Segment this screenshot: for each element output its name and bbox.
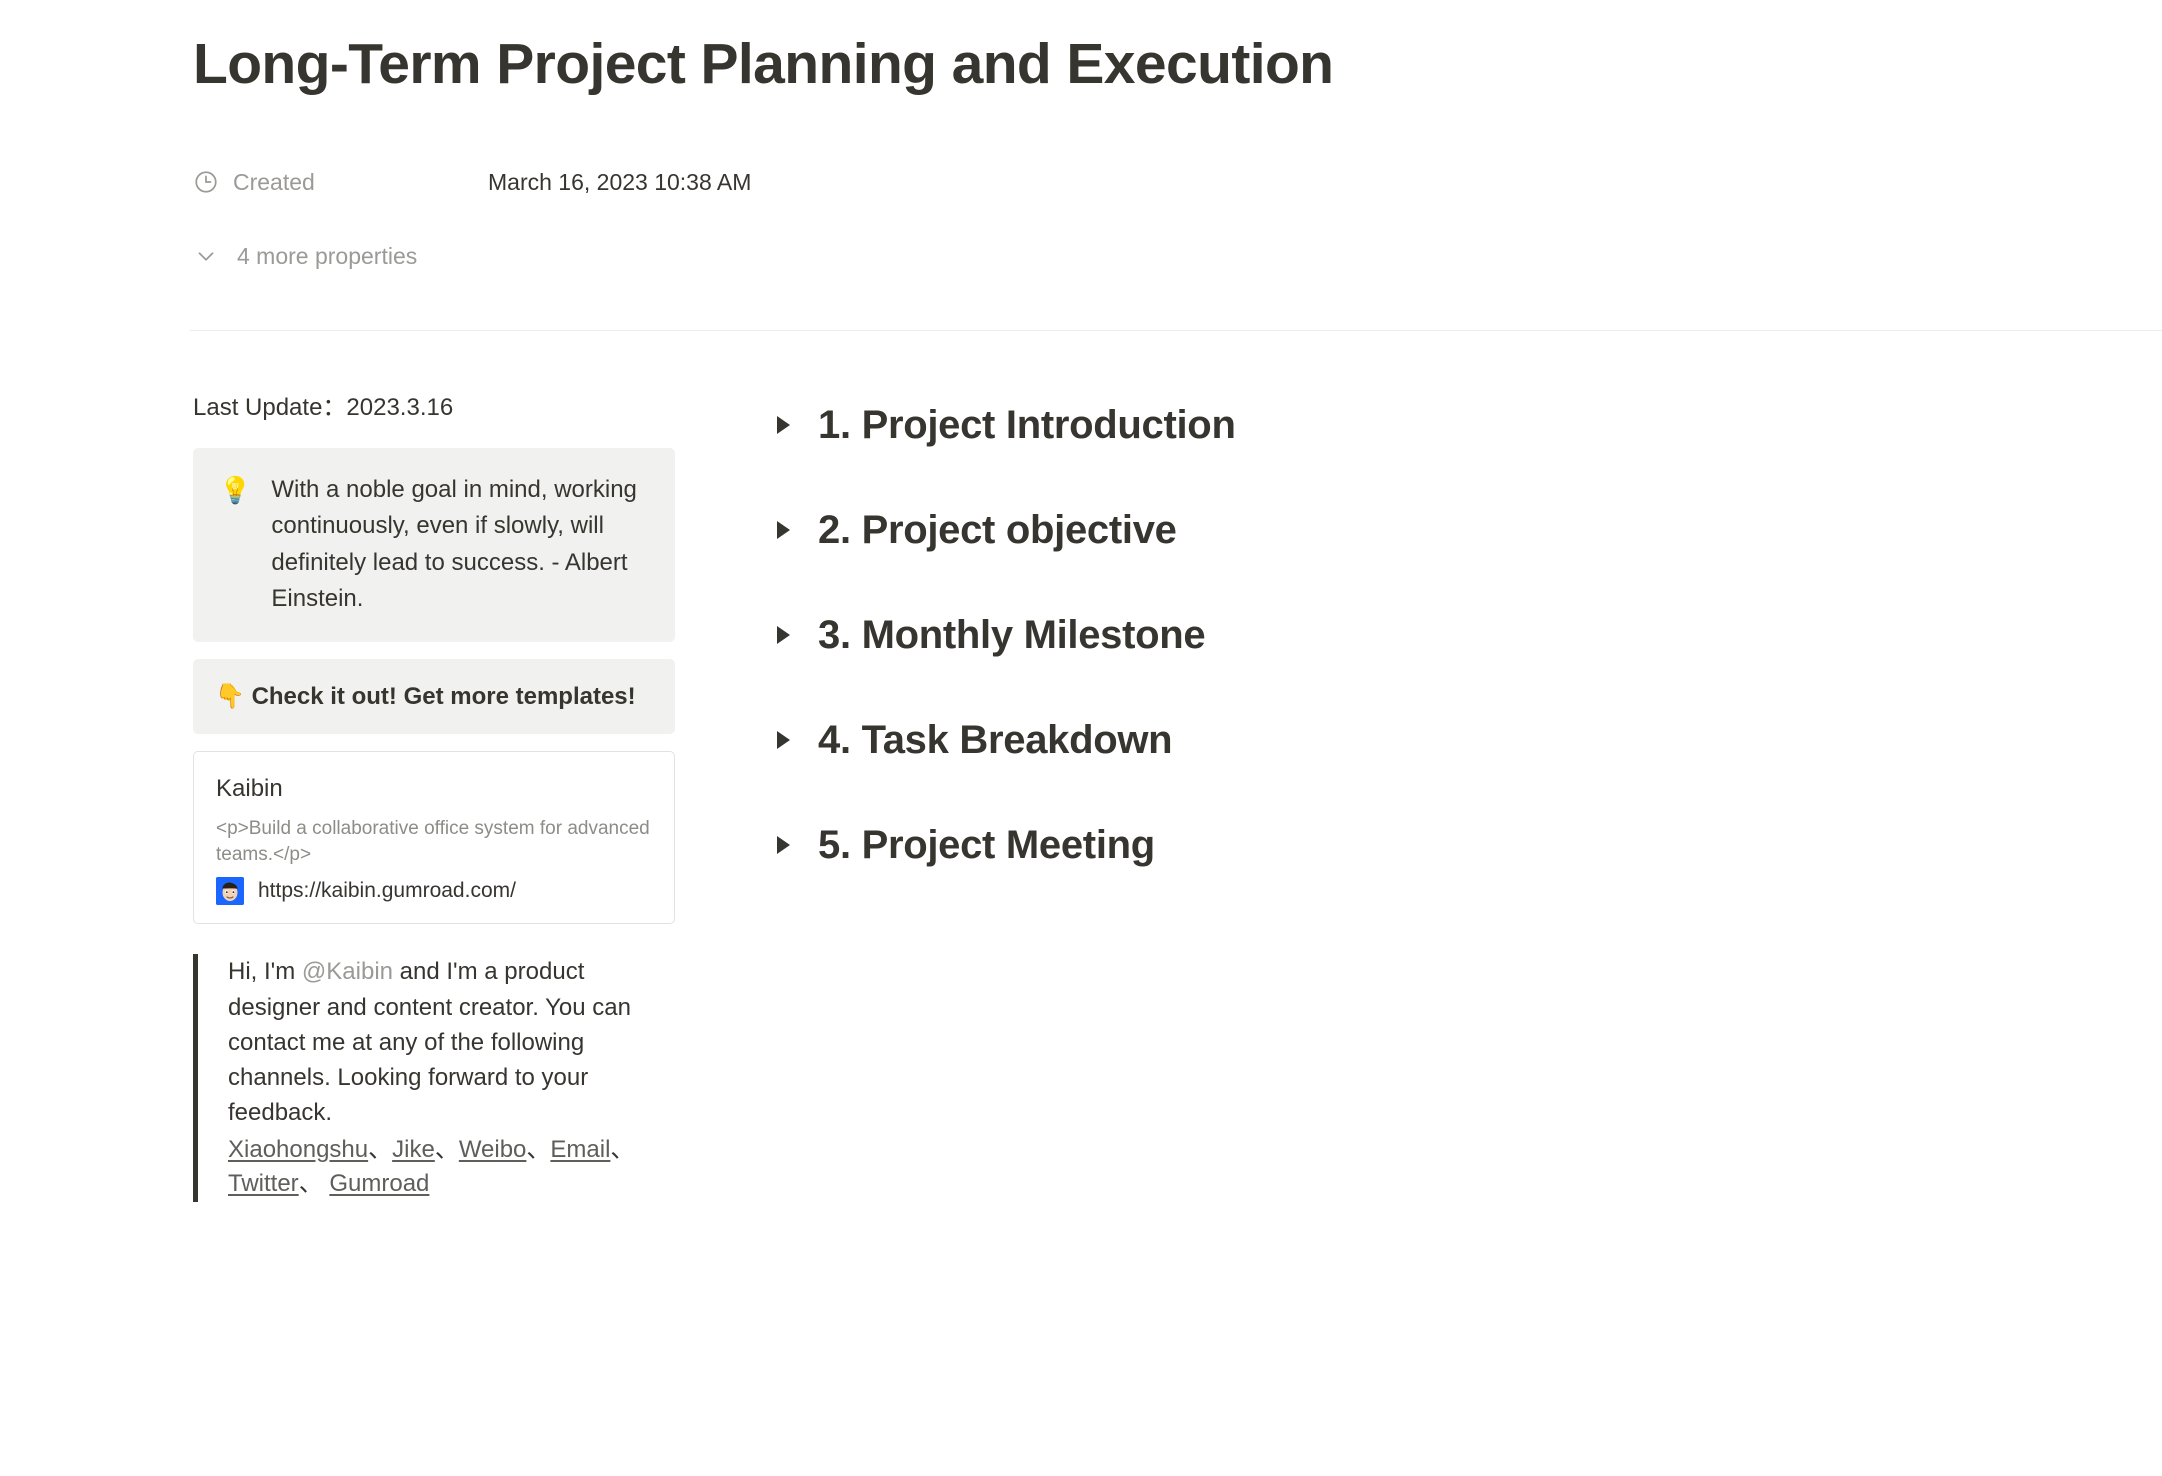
- link-email[interactable]: Email: [550, 1136, 610, 1163]
- bookmark-title: Kaibin: [216, 772, 652, 806]
- triangle-right-icon[interactable]: [770, 412, 796, 438]
- backhand-index-pointing-down-emoji: 👇: [215, 683, 245, 710]
- triangle-right-icon[interactable]: [770, 622, 796, 648]
- chevron-down-icon: [193, 243, 219, 269]
- link-separator-1: 、: [368, 1136, 392, 1163]
- bookmark-description: <p>Build a collaborative office system f…: [216, 816, 652, 867]
- bookmark-url-row[interactable]: https://kaibin.gumroad.com/: [216, 877, 652, 905]
- more-properties-toggle[interactable]: 4 more properties: [193, 234, 1393, 278]
- light-bulb-emoji: 💡: [219, 472, 251, 510]
- promo-callout-text: Check it out! Get more templates!: [252, 683, 636, 710]
- notion-page: Long-Term Project Planning and Execution…: [0, 0, 2162, 1476]
- toggle-heading-4[interactable]: 4. Task Breakdown: [770, 705, 2110, 775]
- property-value-created[interactable]: March 16, 2023 10:38 AM: [488, 169, 751, 196]
- toggle-heading-3-label: 3. Monthly Milestone: [818, 611, 1205, 659]
- last-update-text: Last Update：2023.3.16: [193, 390, 675, 426]
- kaibin-mention[interactable]: @Kaibin: [302, 958, 393, 985]
- triangle-right-icon[interactable]: [770, 727, 796, 753]
- property-row-created[interactable]: Created March 16, 2023 10:38 AM: [193, 160, 1393, 204]
- toggle-heading-1[interactable]: 1. Project Introduction: [770, 390, 2110, 460]
- toggle-heading-4-label: 4. Task Breakdown: [818, 716, 1172, 764]
- toggle-heading-1-label: 1. Project Introduction: [818, 401, 1236, 449]
- property-label-created: Created: [193, 169, 488, 196]
- link-xiaohongshu[interactable]: Xiaohongshu: [228, 1136, 368, 1163]
- right-column: 1. Project Introduction 2. Project objec…: [770, 390, 2110, 915]
- triangle-right-icon[interactable]: [770, 517, 796, 543]
- link-jike[interactable]: Jike: [392, 1136, 435, 1163]
- bio-quote-block: Hi, I'm @Kaibin and I'm a product design…: [193, 954, 675, 1202]
- toggle-heading-5-label: 5. Project Meeting: [818, 821, 1155, 869]
- link-twitter[interactable]: Twitter: [228, 1170, 299, 1197]
- toggle-heading-5[interactable]: 5. Project Meeting: [770, 810, 2110, 880]
- bookmark-card[interactable]: Kaibin <p>Build a collaborative office s…: [193, 751, 675, 924]
- link-separator-4: 、: [610, 1136, 634, 1163]
- toggle-heading-2[interactable]: 2. Project objective: [770, 495, 2110, 565]
- link-separator-3: 、: [526, 1136, 550, 1163]
- property-name-created: Created: [233, 169, 315, 196]
- triangle-right-icon[interactable]: [770, 832, 796, 858]
- page-properties: Created March 16, 2023 10:38 AM 4 more p…: [193, 160, 1393, 278]
- header-divider: [190, 330, 2162, 331]
- bio-intro-before: Hi, I'm: [228, 958, 302, 985]
- page-title[interactable]: Long-Term Project Planning and Execution: [193, 30, 1333, 98]
- bio-quote-text: Hi, I'm @Kaibin and I'm a product design…: [228, 954, 675, 1130]
- kaibin-avatar-favicon: [216, 877, 244, 905]
- toggle-heading-3[interactable]: 3. Monthly Milestone: [770, 600, 2110, 670]
- quote-callout[interactable]: 💡 With a noble goal in mind, working con…: [193, 448, 675, 642]
- contact-links-line: Xiaohongshu、Jike、Weibo、Email、Twitter、 Gu…: [228, 1133, 675, 1203]
- link-weibo[interactable]: Weibo: [459, 1136, 527, 1163]
- quote-callout-text: With a noble goal in mind, working conti…: [271, 472, 649, 618]
- clock-icon: [193, 169, 219, 195]
- left-column: Last Update：2023.3.16 💡 With a noble goa…: [193, 390, 675, 1202]
- link-separator-5: 、: [299, 1170, 323, 1197]
- promo-callout[interactable]: 👇 Check it out! Get more templates!: [193, 659, 675, 735]
- more-properties-label: 4 more properties: [237, 243, 417, 270]
- bookmark-url[interactable]: https://kaibin.gumroad.com/: [258, 879, 516, 903]
- toggle-heading-2-label: 2. Project objective: [818, 506, 1177, 554]
- link-separator-2: 、: [435, 1136, 459, 1163]
- link-gumroad[interactable]: Gumroad: [329, 1170, 429, 1197]
